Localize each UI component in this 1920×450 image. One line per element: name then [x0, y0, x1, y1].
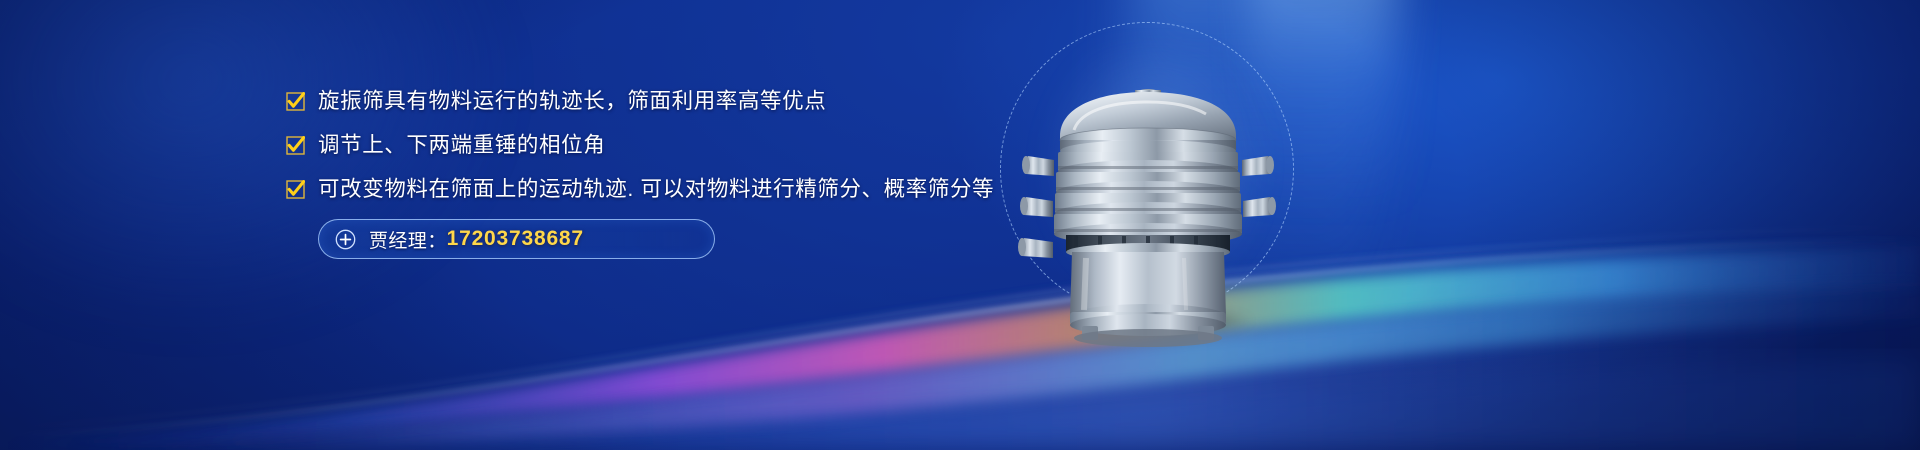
rotary-vibrating-screen-image: [1008, 60, 1288, 320]
feature-list: 旋振筛具有物料运行的轨迹长，筛面利用率高等优点 调节上、下两端重锤的相位角 可改…: [286, 86, 1046, 259]
feature-text: 可改变物料在筛面上的运动轨迹. 可以对物料进行精筛分、概率筛分等: [318, 174, 994, 204]
promo-banner: 旋振筛具有物料运行的轨迹长，筛面利用率高等优点 调节上、下两端重锤的相位角 可改…: [0, 0, 1920, 450]
contact-phone: 17203738687: [447, 227, 584, 251]
checkbox-checked-icon: [286, 136, 305, 155]
checkbox-checked-icon: [286, 180, 305, 199]
list-item: 旋振筛具有物料运行的轨迹长，筛面利用率高等优点: [286, 86, 1046, 118]
feature-text: 旋振筛具有物料运行的轨迹长，筛面利用率高等优点: [318, 86, 826, 116]
contact-button[interactable]: 贾经理： 17203738687: [318, 219, 715, 259]
list-item: 调节上、下两端重锤的相位角: [286, 130, 1046, 162]
contact-label: 贾经理：: [369, 226, 447, 253]
circle-plus-icon: [335, 229, 356, 250]
feature-text: 调节上、下两端重锤的相位角: [318, 130, 605, 160]
list-item: 可改变物料在筛面上的运动轨迹. 可以对物料进行精筛分、概率筛分等: [286, 174, 1046, 206]
checkbox-checked-icon: [286, 92, 305, 111]
